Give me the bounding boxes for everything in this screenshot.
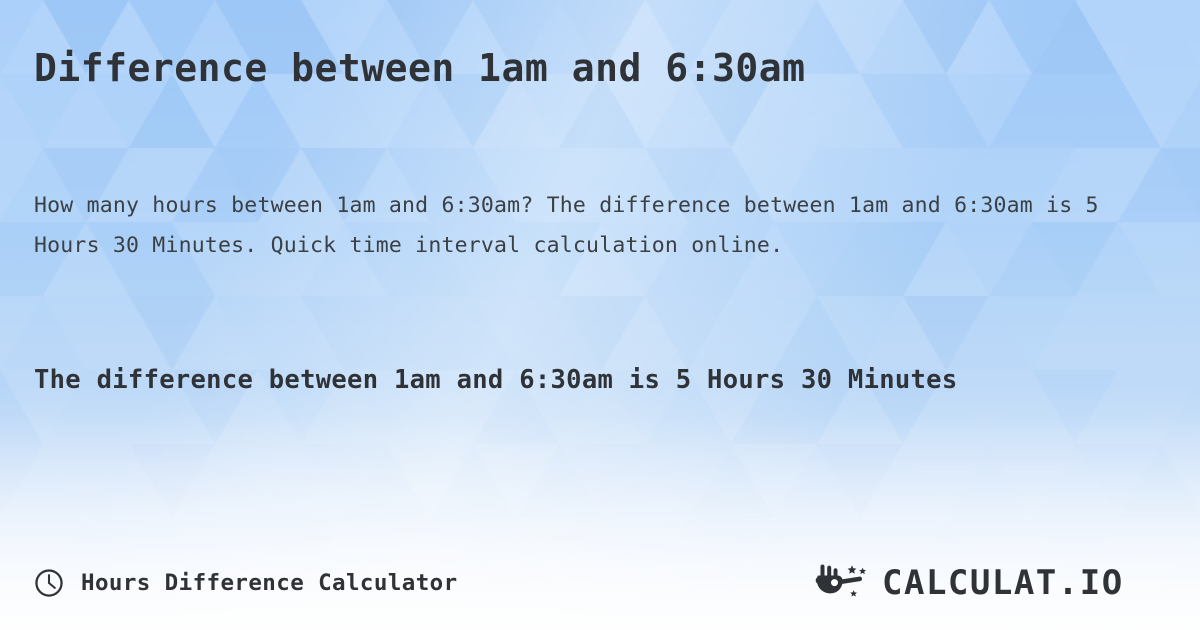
footer-branding-left: Hours Difference Calculator <box>34 568 458 598</box>
footer: Hours Difference Calculator <box>34 560 1182 606</box>
page-container: Difference between 1am and 6:30am How ma… <box>0 0 1200 630</box>
page-title: Difference between 1am and 6:30am <box>34 45 1166 91</box>
magic-wand-hand-icon <box>812 562 876 604</box>
footer-calculator-label: Hours Difference Calculator <box>81 570 458 596</box>
footer-brand-logo[interactable]: CALCULAT.IO <box>812 562 1182 604</box>
answer-result-text: The difference between 1am and 6:30am is… <box>34 356 1064 404</box>
lead-paragraph: How many hours between 1am and 6:30am? T… <box>34 186 1114 266</box>
clock-icon <box>34 568 64 598</box>
svg-text:CALCULAT.IO: CALCULAT.IO <box>882 563 1124 603</box>
brand-wordmark: CALCULAT.IO <box>882 563 1182 603</box>
